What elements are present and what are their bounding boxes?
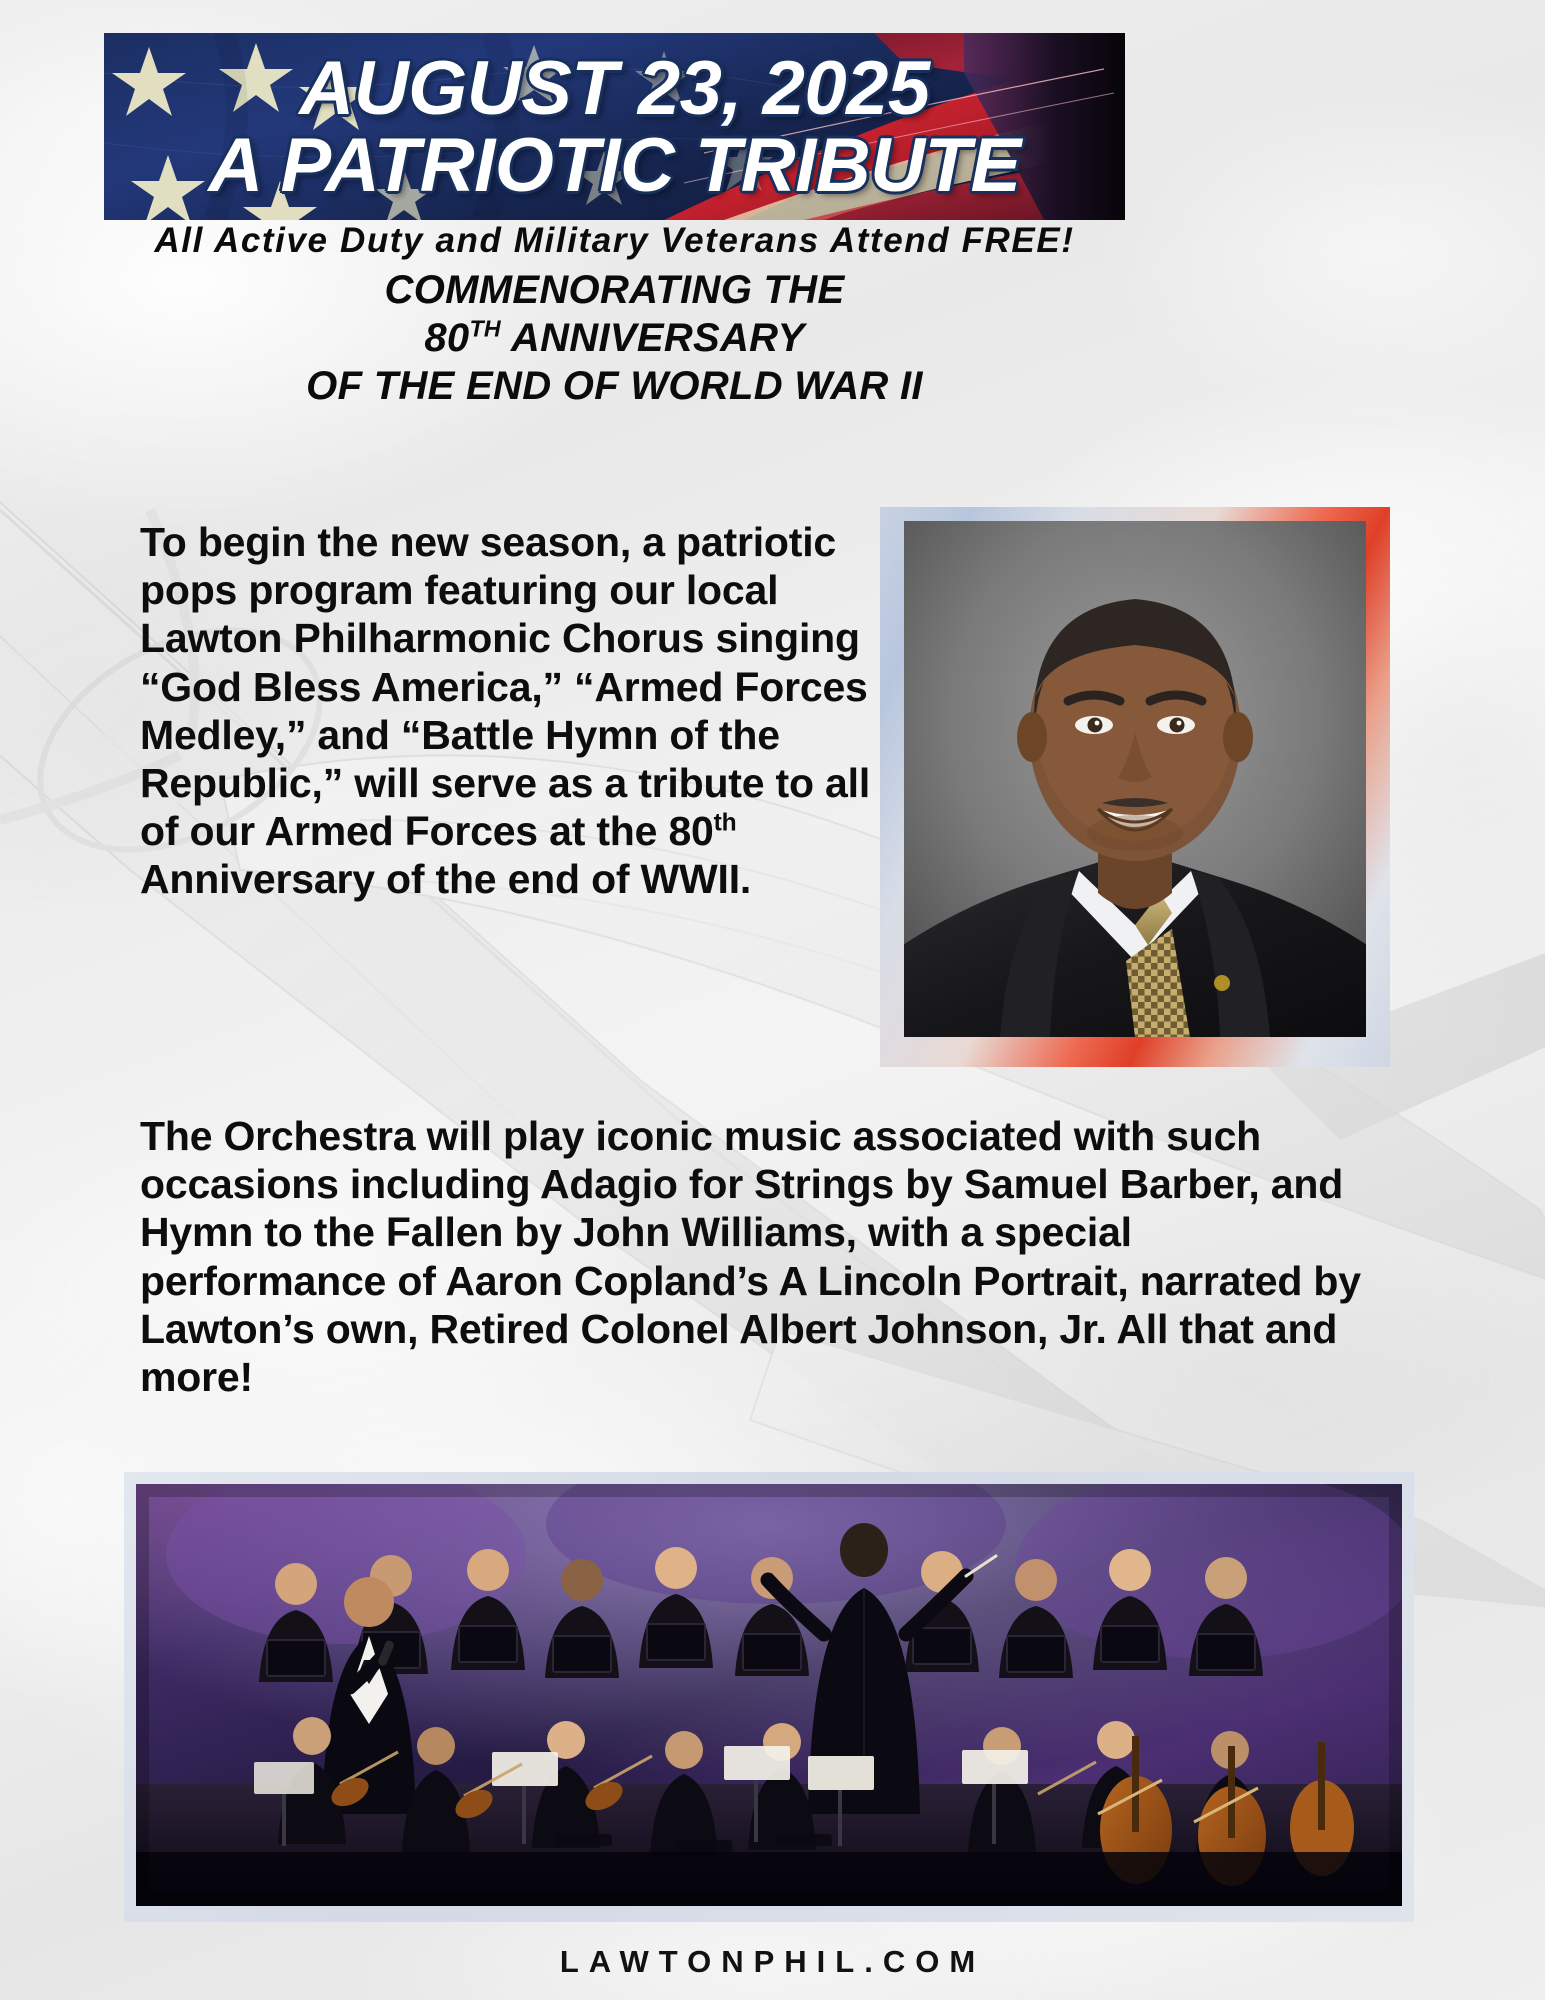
commemoration-block: COMMENORATING THE 80TH ANNIVERSARY OF TH…	[104, 266, 1125, 410]
paragraph1-text-part2: Anniversary of the end of WWII.	[140, 856, 751, 902]
narrator-portrait	[880, 507, 1390, 1067]
orchestra-description-paragraph: The Orchestra will play iconic music ass…	[140, 1112, 1385, 1401]
orchestra-photo	[136, 1484, 1402, 1906]
orchestra-photo-block	[124, 1472, 1414, 1922]
website-footer[interactable]: LAWTONPHIL.COM	[0, 1944, 1545, 1980]
event-title: A PATRIOTIC TRIBUTE	[208, 130, 1020, 203]
commemoration-line-1: COMMENORATING THE	[104, 266, 1125, 314]
commemoration-line-3: OF THE END OF WORLD WAR II	[104, 362, 1125, 410]
event-date: AUGUST 23, 2025	[299, 53, 929, 126]
paragraph1-ordinal-suffix: th	[714, 809, 737, 836]
flyer-page: AUGUST 23, 2025 A PATRIOTIC TRIBUTE All …	[0, 0, 1545, 2000]
paragraph1-text-part1: To begin the new season, a patriotic pop…	[140, 519, 870, 854]
portrait-photo	[904, 521, 1366, 1037]
anniversary-number: 80	[424, 316, 469, 360]
free-admission-line: All Active Duty and Military Veterans At…	[104, 221, 1125, 260]
commemoration-line-2: 80TH ANNIVERSARY	[104, 314, 1125, 362]
header-banner: AUGUST 23, 2025 A PATRIOTIC TRIBUTE	[104, 33, 1125, 220]
anniversary-ordinal-suffix: TH	[469, 316, 501, 342]
anniversary-word: ANNIVERSARY	[501, 316, 805, 360]
banner-text-block: AUGUST 23, 2025 A PATRIOTIC TRIBUTE	[104, 33, 1125, 220]
program-description-paragraph: To begin the new season, a patriotic pop…	[140, 518, 910, 903]
subheading-block: All Active Duty and Military Veterans At…	[104, 221, 1125, 410]
